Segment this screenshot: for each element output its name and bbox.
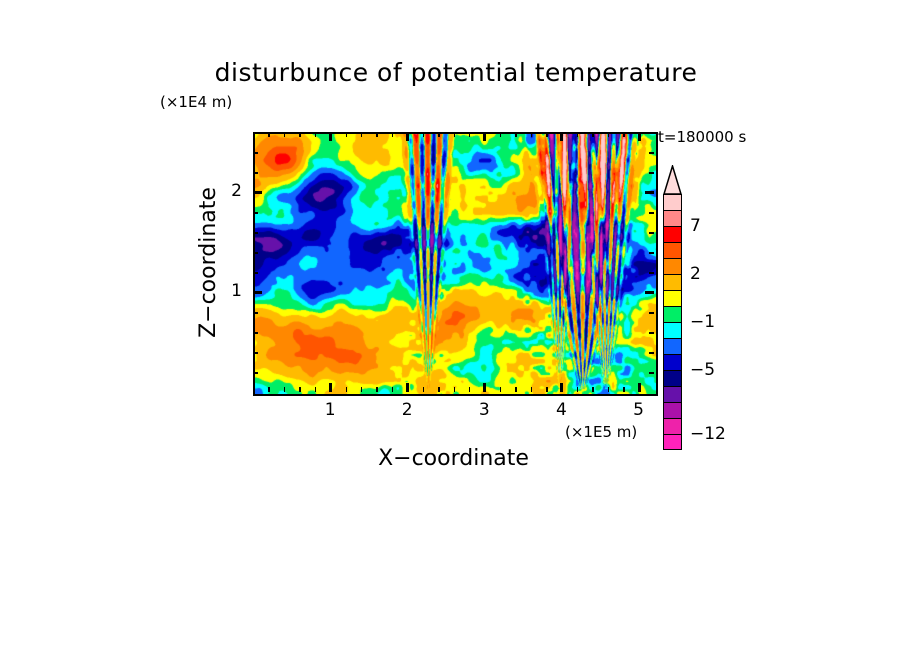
contour-plot-area [253, 132, 658, 396]
colorbar-tick-label: 7 [690, 216, 701, 236]
colorbar-band [663, 194, 682, 210]
x-tick-label: 2 [387, 400, 427, 420]
colorbar-band [663, 418, 682, 434]
page-title: disturbunce of potential temperature [0, 58, 904, 87]
colorbar-band [663, 290, 682, 306]
colorbar-band [663, 386, 682, 402]
timestamp-label: t=180000 s [658, 128, 746, 146]
colorbar-band [663, 322, 682, 338]
x-tick-label: 4 [541, 400, 581, 420]
colorbar-band [663, 242, 682, 258]
x-axis-title: X−coordinate [253, 446, 654, 471]
colorbar-band [663, 258, 682, 274]
x-tick-label: 1 [310, 400, 350, 420]
colorbar-band [663, 226, 682, 242]
x-axis-unit-label: (×1E5 m) [565, 423, 637, 441]
y-axis-title: Z−coordinate [196, 155, 222, 370]
colorbar-arrow-icon [663, 165, 682, 195]
colorbar-band [663, 370, 682, 386]
z-axis-unit-label: (×1E4 m) [160, 93, 232, 111]
colorbar-band [663, 402, 682, 418]
colorbar-tick-label: −12 [690, 424, 726, 444]
colorbar-band [663, 306, 682, 322]
page-title-text: disturbunce of potential temperature [207, 58, 698, 87]
colorbar-band [663, 434, 682, 450]
x-tick-label: 3 [464, 400, 504, 420]
colorbar-band [663, 274, 682, 290]
colorbar-tick-label: 2 [690, 264, 701, 284]
x-tick-label: 5 [619, 400, 659, 420]
colorbar-band [663, 338, 682, 354]
colorbar-band [663, 354, 682, 370]
colorbar-tick-label: −5 [690, 360, 715, 380]
colorbar-tick-label: −1 [690, 312, 715, 332]
contour-field-canvas [255, 134, 656, 394]
colorbar-band [663, 210, 682, 226]
colorbar [663, 194, 682, 450]
